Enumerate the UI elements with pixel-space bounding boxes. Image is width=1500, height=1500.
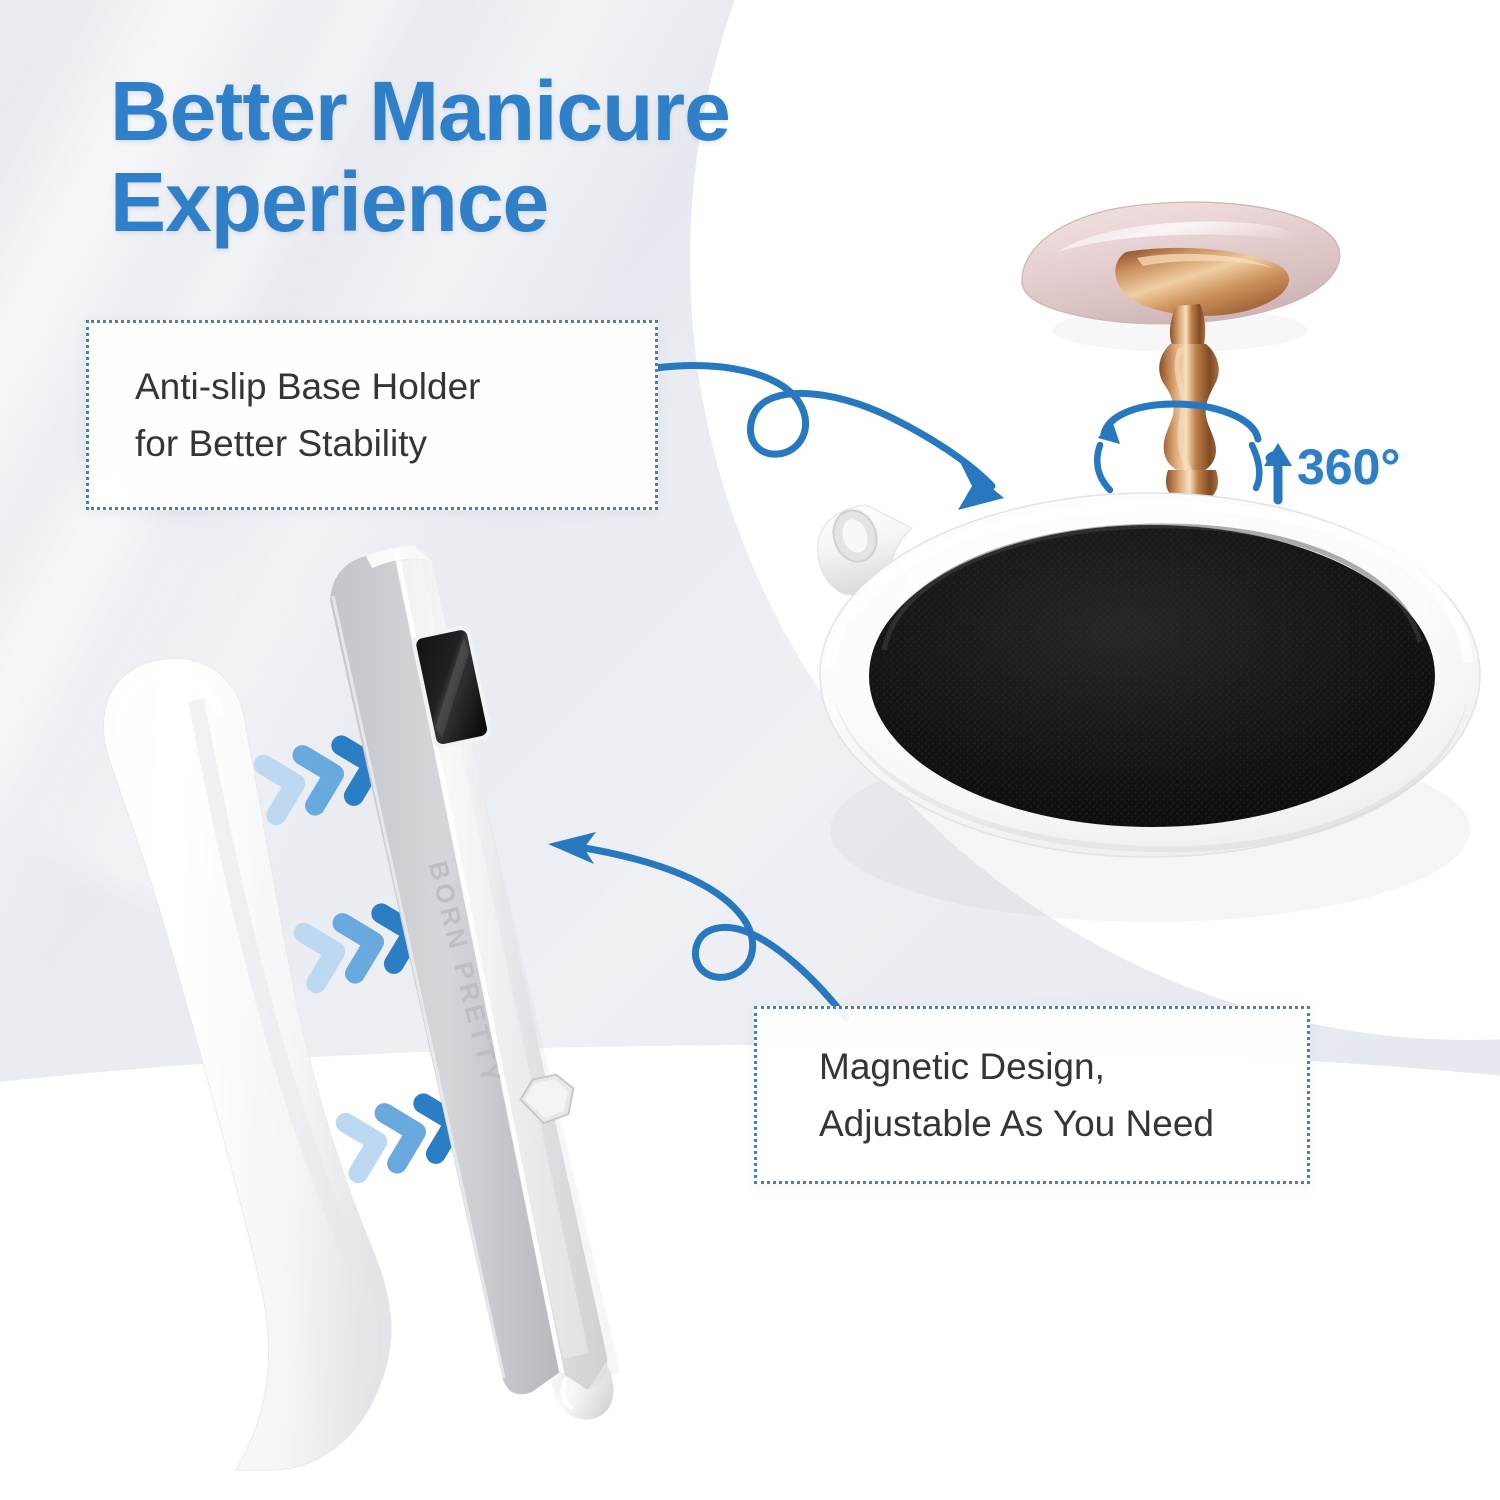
product-infographic: Better Manicure Experience Anti-slip Bas… [0,0,1500,1500]
leader-arrow-to-pen [548,832,846,1018]
callout-magnetic-design: Magnetic Design, Adjustable As You Need [754,1006,1310,1184]
rotation-degree-label: 360° [1297,438,1400,496]
callout-anti-slip: Anti-slip Base Holder for Better Stabili… [86,320,658,510]
callout-anti-slip-line-2: for Better Stability [89,415,655,472]
page-title-line-1: Better Manicure [110,64,730,158]
callout-anti-slip-line-1: Anti-slip Base Holder [89,358,655,415]
leader-arrow-to-base [656,366,1004,510]
cuticle-pusher-spatula [104,658,392,1470]
page-title-line-2: Experience [110,157,950,248]
nail-tip-holder [1022,202,1340,498]
anti-slip-base-holder [818,493,1480,922]
callout-magnetic-line-1: Magnetic Design, [757,1038,1307,1095]
page-title: Better Manicure Experience [110,66,950,247]
callout-magnetic-line-2: Adjustable As You Need [757,1095,1307,1152]
